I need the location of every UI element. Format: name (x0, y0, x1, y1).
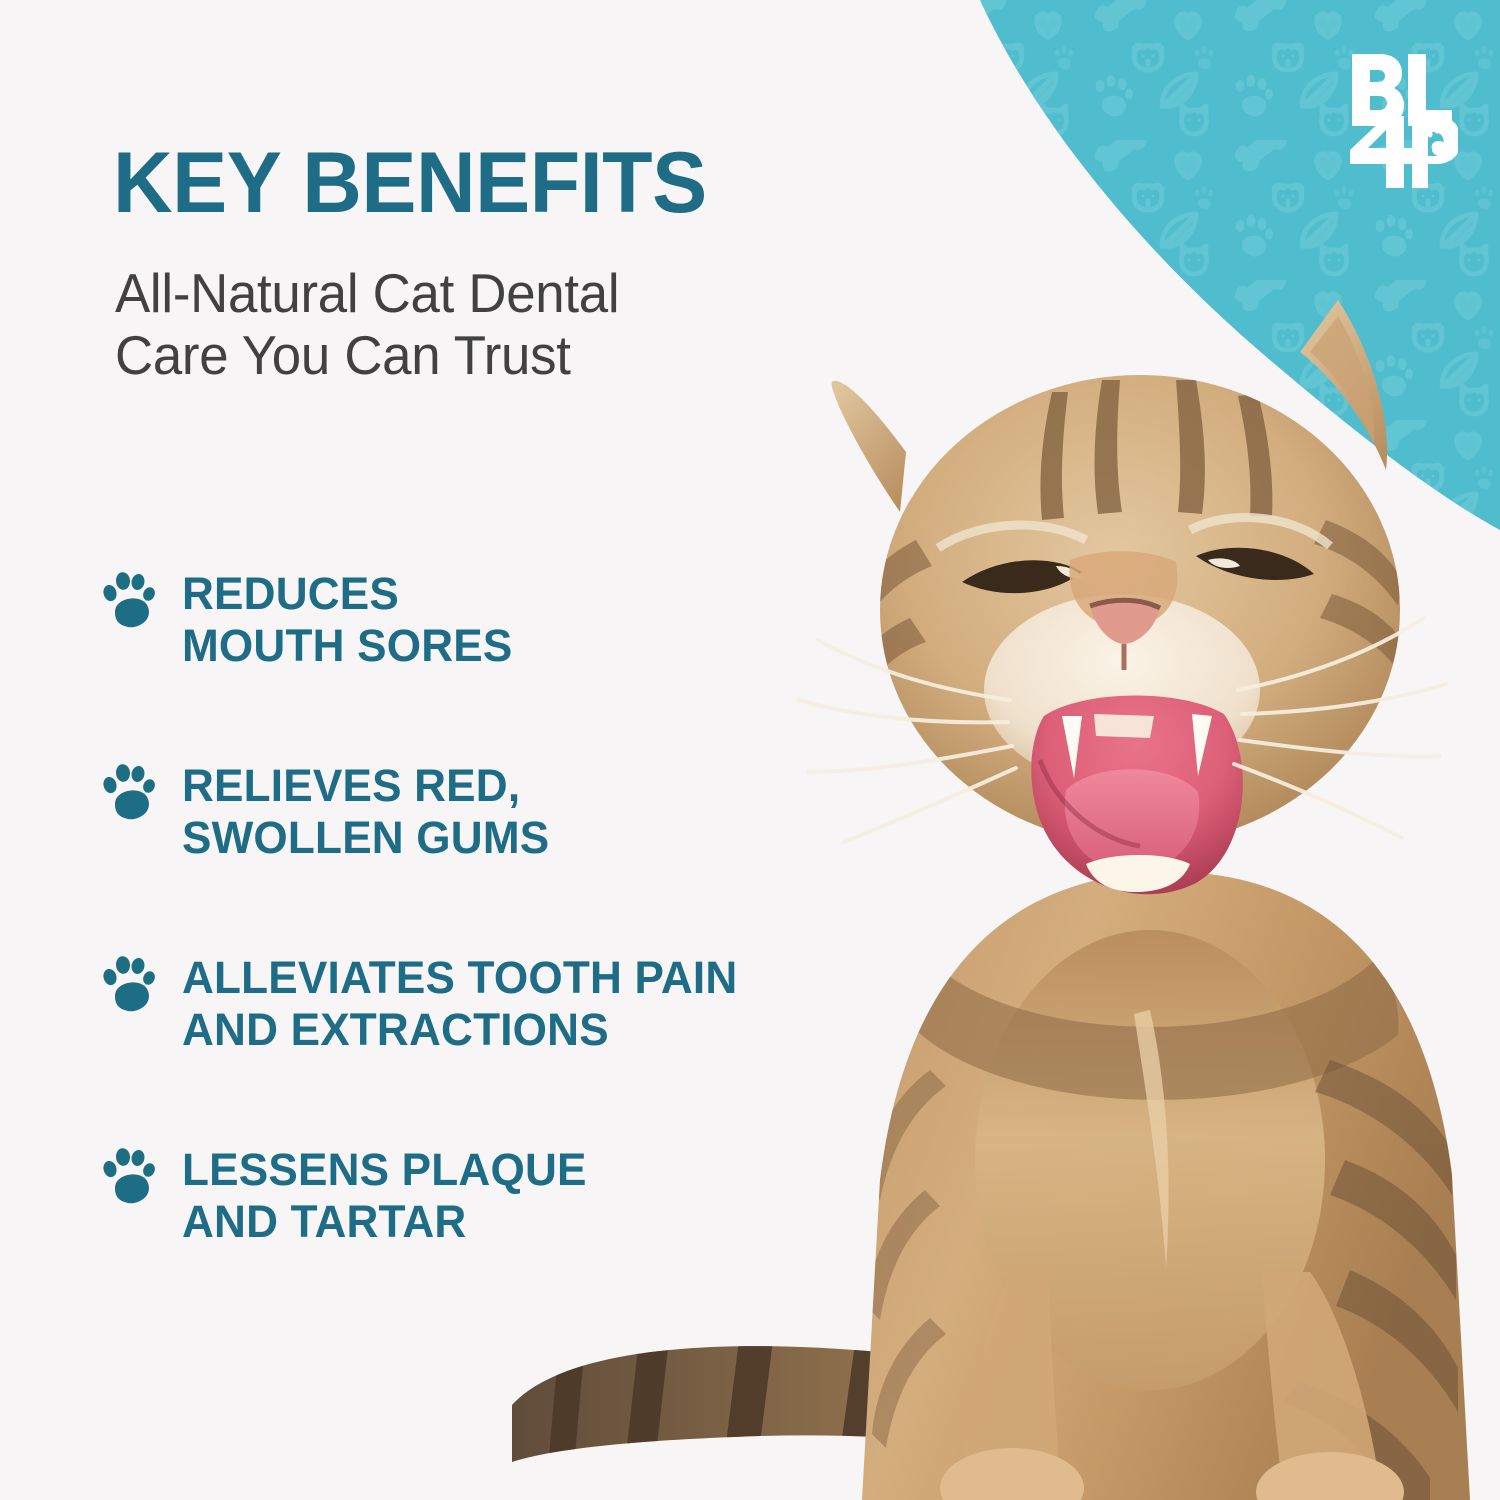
left-eye (962, 560, 1082, 593)
benefit-line-1: RELIEVES RED, (182, 760, 549, 812)
cat-tail (512, 1330, 1160, 1500)
page-subtitle-line-2: Care You Can Trust (115, 324, 619, 386)
benefit-label: LESSENS PLAQUE AND TARTAR (182, 1142, 587, 1248)
benefit-item: ALLEVIATES TOOTH PAIN AND EXTRACTIONS (113, 950, 913, 1056)
cat-nose (1090, 598, 1160, 644)
benefit-item: REDUCES MOUTH SORES (113, 566, 913, 672)
benefit-label: ALLEVIATES TOOTH PAIN AND EXTRACTIONS (182, 950, 737, 1056)
benefit-label: RELIEVES RED, SWOLLEN GUMS (182, 758, 549, 864)
benefit-label: REDUCES MOUTH SORES (182, 566, 512, 672)
paw-print-icon (103, 956, 157, 1014)
cat-mouth (1031, 695, 1243, 894)
lower-teeth (1086, 855, 1190, 892)
page-subtitle-line-1: All-Natural Cat Dental (115, 262, 619, 324)
product-benefits-poster: KEY BENEFITS All-Natural Cat Dental Care… (0, 0, 1500, 1500)
page-subtitle: All-Natural Cat Dental Care You Can Trus… (115, 262, 619, 386)
benefit-item: LESSENS PLAQUE AND TARTAR (113, 1142, 913, 1248)
cat-head (852, 375, 1408, 845)
benefit-line-2: AND EXTRACTIONS (182, 1004, 737, 1056)
benefit-line-2: AND TARTAR (182, 1196, 587, 1248)
right-fang (1192, 714, 1212, 776)
cat-ears (832, 300, 1387, 512)
benefit-line-2: SWOLLEN GUMS (182, 812, 549, 864)
brand-logo[interactable] (1346, 48, 1458, 194)
left-fang (1062, 716, 1082, 778)
benefit-line-1: ALLEVIATES TOOTH PAIN (182, 952, 737, 1004)
benefit-line-2: MOUTH SORES (182, 620, 512, 672)
paw-print-icon (103, 572, 157, 630)
cat-tongue (1065, 769, 1199, 872)
benefits-list: REDUCES MOUTH SORES (113, 566, 913, 1248)
benefit-item: RELIEVES RED, SWOLLEN GUMS (113, 758, 913, 864)
right-eye (1196, 548, 1314, 580)
benefit-line-1: LESSENS PLAQUE (182, 1144, 587, 1196)
benefit-line-1: REDUCES (182, 568, 512, 620)
cat-body (862, 872, 1470, 1500)
paw-print-icon (103, 764, 157, 822)
paw-print-icon (103, 1148, 157, 1206)
page-title: KEY BENEFITS (113, 141, 707, 225)
